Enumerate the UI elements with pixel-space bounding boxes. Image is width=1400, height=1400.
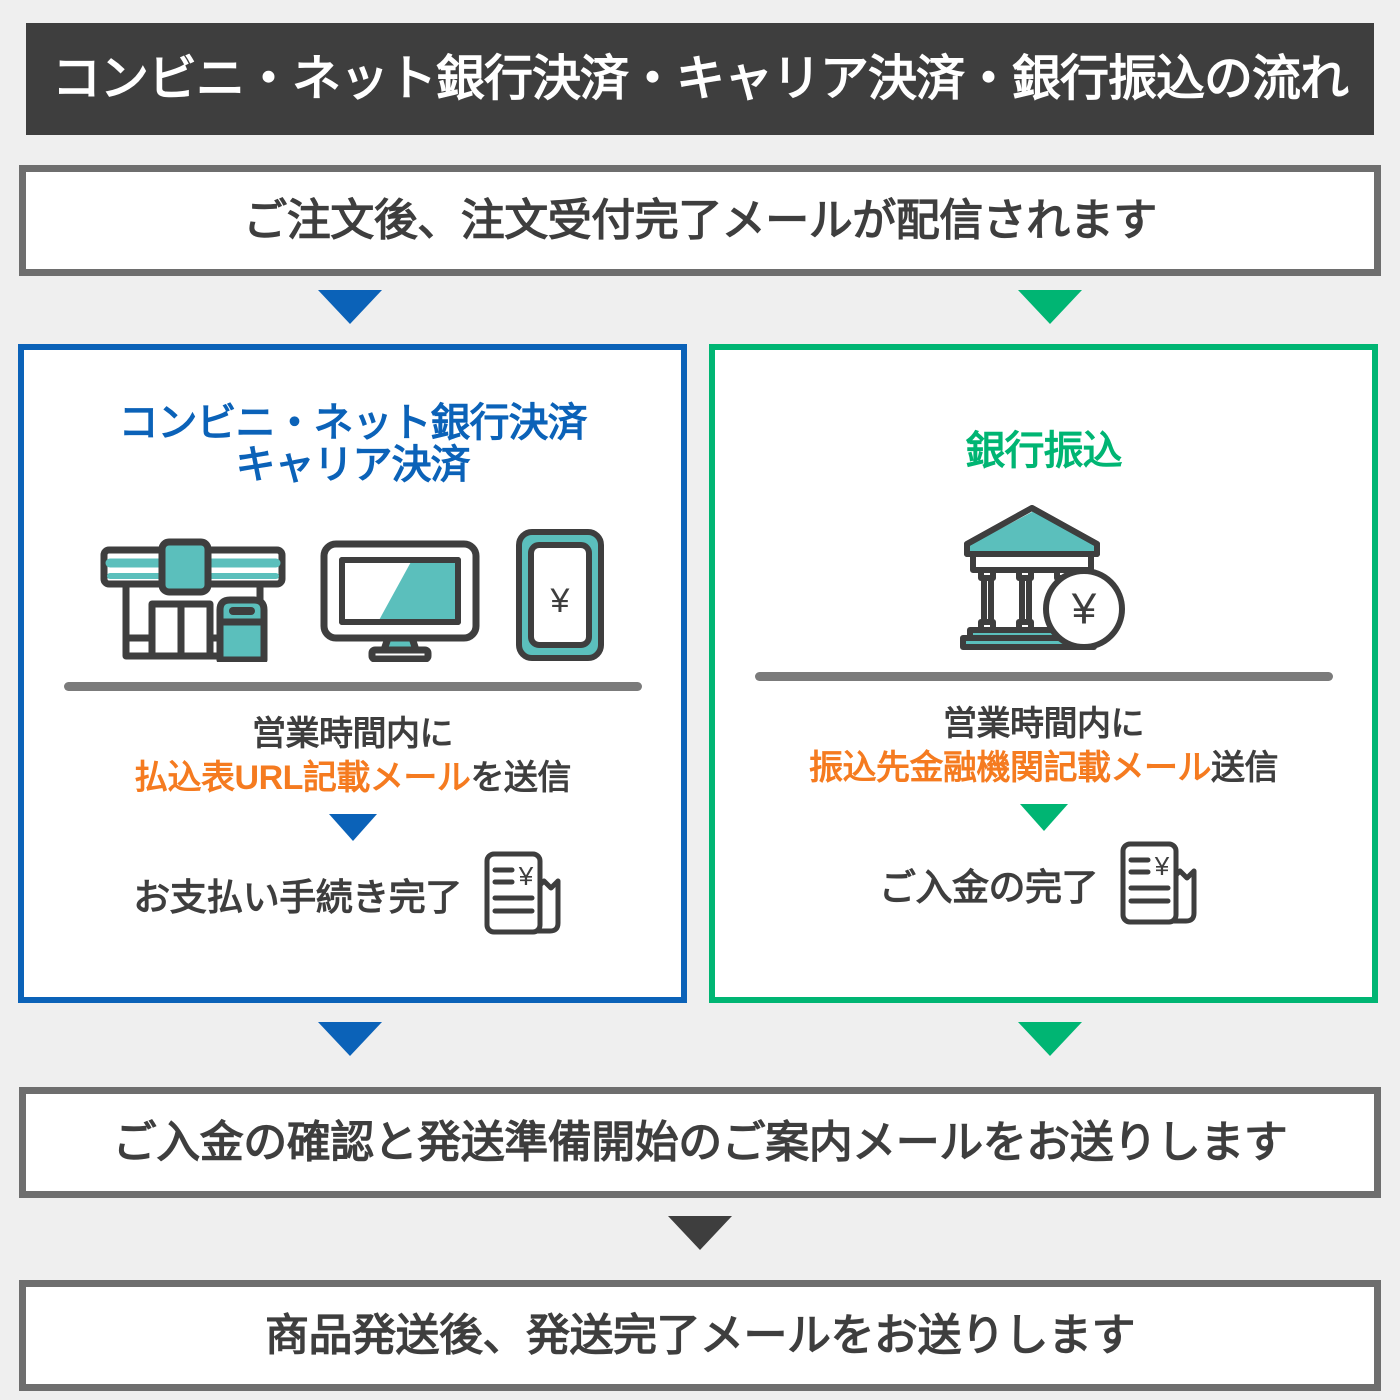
arrow-to-convenience-icon (318, 290, 382, 324)
step-shipped-text: 商品発送後、発送完了メールをお送りします (265, 1314, 1135, 1358)
step-shipped-box: 商品発送後、発送完了メールをお送りします (19, 1280, 1381, 1391)
panel-convenience-icon-row: ¥ (24, 512, 681, 662)
arrow-to-bank-transfer-icon (1018, 290, 1082, 324)
convenience-store-icon (100, 538, 286, 662)
notice-line1: 営業時間内に (943, 705, 1144, 743)
panel-convenience-mini-arrow-wrap (24, 814, 681, 841)
notice-line1: 営業時間内に (252, 715, 453, 753)
receipt-icon: ¥ (476, 849, 572, 939)
panel-bank-transfer-icon-row: ¥ (715, 502, 1372, 652)
arrow-to-shipped-icon (668, 1216, 732, 1250)
arrow-convenience-step-icon (329, 814, 377, 841)
panel-convenience-divider (64, 682, 642, 691)
panel-bank-transfer-mini-arrow-wrap (715, 804, 1372, 831)
panel-bank-transfer-complete-text: ご入金の完了 (879, 857, 1098, 911)
notice-highlight: 払込表URL記載メール (134, 759, 470, 797)
step-order-email-box: ご注文後、注文受付完了メールが配信されます (19, 165, 1381, 276)
step-payment-confirmed-box: ご入金の確認と発送準備開始のご案内メールをお送りします (19, 1087, 1381, 1198)
panel-bank-transfer-divider (755, 672, 1333, 681)
notice-suffix: を送信 (470, 759, 571, 797)
smartphone-yen-icon: ¥ (514, 528, 606, 662)
panel-bank-transfer-title: 銀行振込 (715, 430, 1372, 472)
step-order-email-text: ご注文後、注文受付完了メールが配信されます (243, 199, 1157, 243)
panel-bank-transfer-notice: 営業時間内に 振込先金融機関記載メール送信 (715, 703, 1372, 790)
svg-text:¥: ¥ (1154, 851, 1170, 881)
svg-text:¥: ¥ (518, 861, 534, 891)
svg-text:¥: ¥ (1070, 585, 1096, 634)
step-payment-confirmed-text: ご入金の確認と発送準備開始のご案内メールをお送りします (113, 1121, 1288, 1165)
page-title: コンビニ・ネット銀行決済・キャリア決済・銀行振込の流れ (52, 55, 1348, 104)
bank-building-yen-icon: ¥ (956, 502, 1132, 652)
svg-text:¥: ¥ (549, 582, 569, 620)
panel-convenience-complete-text: お支払い手続き完了 (133, 867, 462, 921)
notice-suffix: 送信 (1211, 749, 1278, 787)
arrow-bank-step-icon (1020, 804, 1068, 831)
panel-convenience-complete-row: お支払い手続き完了 ¥ (24, 849, 681, 939)
arrow-bank-down-icon (1018, 1022, 1082, 1056)
panel-convenience-notice: 営業時間内に 払込表URL記載メールを送信 (24, 713, 681, 800)
notice-highlight: 振込先金融機関記載メール (809, 749, 1211, 787)
panel-bank-transfer: 銀行振込 (709, 344, 1378, 1003)
panel-convenience: コンビニ・ネット銀行決済 キャリア決済 (18, 344, 687, 1003)
panel-convenience-title: コンビニ・ネット銀行決済 キャリア決済 (24, 402, 681, 486)
panel-bank-transfer-complete-row: ご入金の完了 ¥ (715, 839, 1372, 929)
monitor-icon (320, 540, 480, 662)
diagram-header: コンビニ・ネット銀行決済・キャリア決済・銀行振込の流れ (26, 23, 1374, 135)
payment-flow-diagram: コンビニ・ネット銀行決済・キャリア決済・銀行振込の流れ ご注文後、注文受付完了メ… (0, 0, 1400, 1400)
receipt-icon: ¥ (1112, 839, 1208, 929)
arrow-convenience-down-icon (318, 1022, 382, 1056)
